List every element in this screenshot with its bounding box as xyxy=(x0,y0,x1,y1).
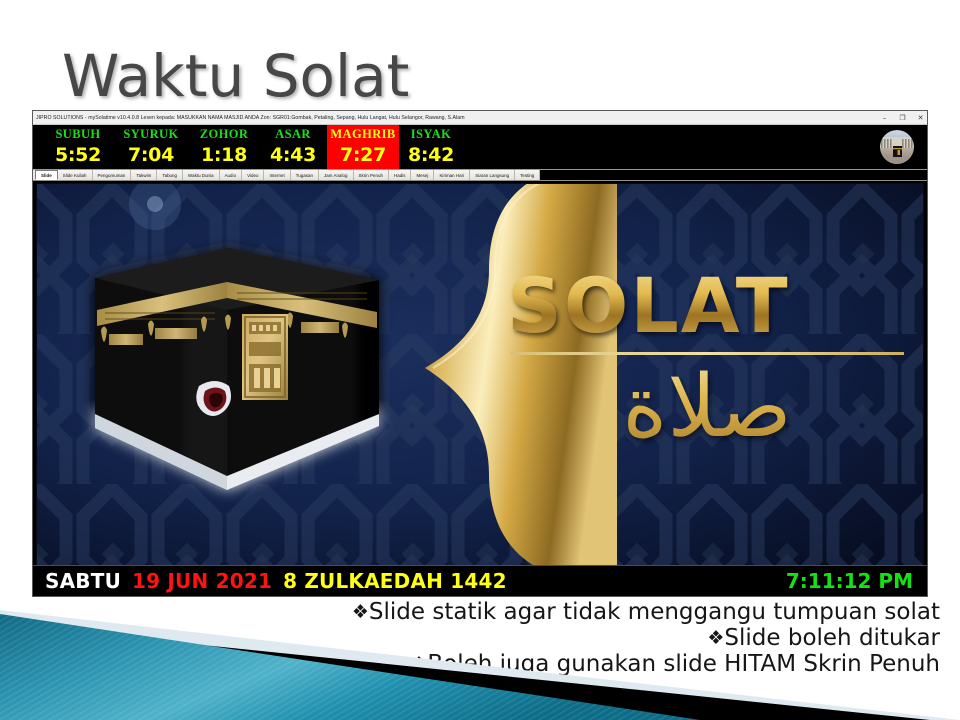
prayer-name: ZOHOR xyxy=(200,126,249,143)
prayer-name: ISYAK xyxy=(411,126,451,143)
page-title: Waktu Solat xyxy=(62,42,409,110)
tab-testing[interactable]: Testing xyxy=(515,170,540,180)
slide-preview-canvas[interactable]: SOLAT صلاة xyxy=(36,183,924,566)
tab-tugasan[interactable]: Tugasan xyxy=(291,170,319,180)
prayer-name: SYURUK xyxy=(123,126,178,143)
tab-takwim[interactable]: Takwim xyxy=(131,170,157,180)
solat-arabic-text: صلاة xyxy=(507,359,907,455)
date-group: SABTU 19 JUN 2021 8 ZULKAEDAH 1442 xyxy=(33,569,507,593)
prayer-name: SUBUH xyxy=(55,126,100,143)
status-hijri-date: 8 ZULKAEDAH 1442 xyxy=(283,569,507,593)
tab-tabung[interactable]: Tabung xyxy=(157,170,183,180)
window-controls: – ❐ ✕ xyxy=(880,111,925,125)
solat-divider-rule xyxy=(510,352,904,355)
prayer-time: 1:18 xyxy=(201,143,247,167)
tab-slide-kuliah[interactable]: Slide Kuliah xyxy=(58,170,93,180)
prayer-time: 7:27 xyxy=(340,143,386,167)
tab-strip-filler xyxy=(540,170,927,180)
status-day: SABTU xyxy=(45,569,121,593)
tab-video[interactable]: Video xyxy=(242,170,264,180)
solat-latin-text: SOLAT xyxy=(507,266,907,346)
prayer-maghrib: MAGHRIB 7:27 xyxy=(327,125,399,169)
tab-slide[interactable]: Slide xyxy=(35,170,58,180)
prayer-name: ASAR xyxy=(275,126,311,143)
prayer-zohor: ZOHOR 1:18 xyxy=(189,125,259,169)
prayer-times-row: SUBUH 5:52 SYURUK 7:04 ZOHOR 1:18 ASAR 4… xyxy=(43,125,463,169)
list-item-text: Slide statik agar tidak menggangu tumpua… xyxy=(369,599,940,625)
prayer-name: MAGHRIB xyxy=(330,126,395,143)
prayer-time: 7:04 xyxy=(128,143,174,167)
close-icon: ✕ xyxy=(916,114,925,123)
prayer-time: 8:42 xyxy=(408,143,454,167)
tab-hadis[interactable]: Hadis xyxy=(389,170,411,180)
maximize-button[interactable]: ❐ xyxy=(898,114,907,123)
diamond-bullet-icon: ❖ xyxy=(352,601,369,623)
prayer-time: 4:43 xyxy=(270,143,316,167)
tab-waktu-dunia[interactable]: Waktu Dunia xyxy=(183,170,220,180)
minimize-button[interactable]: – xyxy=(880,114,889,123)
masjid-photo-badge xyxy=(880,130,914,164)
window-title-text: JIPRO SOLUTIONS - mySolatime v10.4.0.8 L… xyxy=(36,115,465,121)
prayer-asar: ASAR 4:43 xyxy=(259,125,327,169)
tab-internet[interactable]: Internet xyxy=(264,170,290,180)
module-tab-strip[interactable]: Slide Slide Kuliah Pengumuman Takwim Tab… xyxy=(33,169,927,181)
tab-audio[interactable]: Audio xyxy=(220,170,242,180)
slide-bullet-list: ❖Slide statik agar tidak menggangu tumpu… xyxy=(300,599,940,677)
list-item: ❖Slide boleh ditukar xyxy=(300,625,940,651)
list-item-text: Boleh juga gunakan slide HITAM Skrin Pen… xyxy=(427,651,940,677)
kaaba-illustration xyxy=(79,218,409,508)
tab-siaran-langsung[interactable]: Siaran Langsung xyxy=(470,170,515,180)
tab-pengumuman[interactable]: Pengumuman xyxy=(93,170,132,180)
diamond-bullet-icon: ❖ xyxy=(410,653,427,675)
list-item-text: Slide boleh ditukar xyxy=(724,625,940,651)
prayer-syuruk: SYURUK 7:04 xyxy=(113,125,189,169)
prayer-subuh: SUBUH 5:52 xyxy=(43,125,113,169)
tab-mesej[interactable]: Mesej xyxy=(411,170,434,180)
list-item: ❖Boleh juga gunakan slide HITAM Skrin Pe… xyxy=(300,651,940,677)
status-clock: 7:11:12 PM xyxy=(786,569,927,593)
prayer-isyak: ISYAK 8:42 xyxy=(399,125,463,169)
mysolatime-window: JIPRO SOLUTIONS - mySolatime v10.4.0.8 L… xyxy=(32,110,928,597)
list-item: ❖Slide statik agar tidak menggangu tumpu… xyxy=(300,599,940,625)
window-titlebar: JIPRO SOLUTIONS - mySolatime v10.4.0.8 L… xyxy=(33,111,927,125)
minimize-icon: – xyxy=(880,114,889,123)
close-button[interactable]: ✕ xyxy=(916,114,925,123)
date-status-bar: SABTU 19 JUN 2021 8 ZULKAEDAH 1442 7:11:… xyxy=(33,565,927,596)
tab-jam-analog[interactable]: Jam Analog xyxy=(319,170,353,180)
prayer-times-bar: SUBUH 5:52 SYURUK 7:04 ZOHOR 1:18 ASAR 4… xyxy=(33,125,927,169)
status-gregorian-date: 19 JUN 2021 xyxy=(132,569,272,593)
tab-skrin-penuh[interactable]: Skrin Penuh xyxy=(354,170,389,180)
solat-wordmark: SOLAT صلاة xyxy=(507,266,907,455)
prayer-time: 5:52 xyxy=(55,143,101,167)
tab-kiriman-hari[interactable]: Kiriman Hari xyxy=(434,170,470,180)
maximize-icon: ❐ xyxy=(898,114,907,123)
diamond-bullet-icon: ❖ xyxy=(707,627,724,649)
